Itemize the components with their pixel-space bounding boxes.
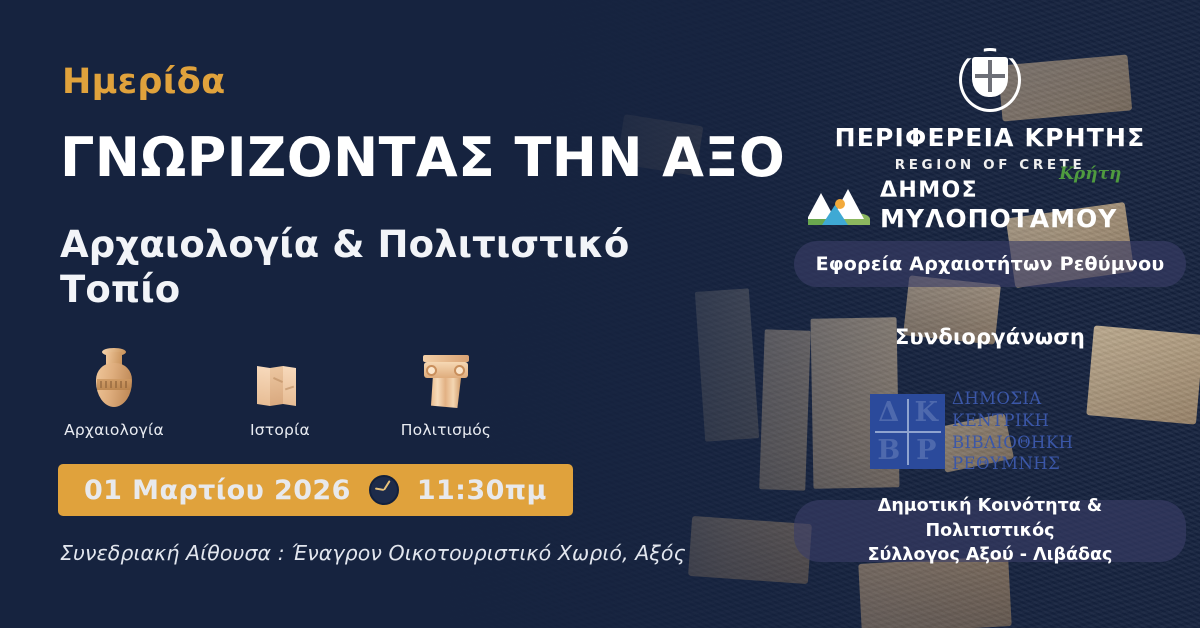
emblem-shield [972, 57, 1008, 97]
right-logo-panel: ΠΕΡΙΦΕΡΕΙΑ ΚΡΗΤΗΣ REGION OF CRETE ΔΗΜΟΣ … [780, 0, 1200, 628]
event-time: 11:30πμ [417, 475, 547, 506]
library-line3: ΒΙΒΛΙΟΘΗΚΗ [952, 432, 1073, 454]
municipality-text: ΔΗΜΟΣ ΜΥΛΟΠΟΤΑΜΟΥ Κρήτη [880, 180, 1117, 231]
monogram-letter: Β [870, 432, 908, 470]
column-shaft [431, 378, 461, 408]
map-fold [257, 366, 270, 406]
folded-map-icon [249, 345, 311, 411]
theme-item-label: Ιστορία [250, 421, 310, 439]
event-date: 01 Μαρτίου 2026 [84, 475, 351, 506]
monogram-letter: Κ [908, 394, 946, 432]
region-of-crete-logo: ΠΕΡΙΦΕΡΕΙΑ ΚΡΗΤΗΣ REGION OF CRETE [780, 48, 1200, 173]
map-fold [270, 366, 283, 406]
event-poster: Ημερίδα ΓΝΩΡΙΖΟΝΤΑΣ ΤΗΝ ΑΞΟ Αρχαιολογία … [0, 0, 1200, 628]
theme-item-archaeology: Αρχαιολογία [60, 345, 168, 439]
local-badge-line2: Σύλλογος Αξού - Λιβάδας [868, 543, 1113, 568]
column-volute [454, 365, 465, 376]
theme-item-culture: Πολιτισμός [392, 345, 500, 439]
mylopotamos-municipality-logo: ΔΗΜΟΣ ΜΥΛΟΠΟΤΑΜΟΥ Κρήτη [808, 180, 1117, 231]
emblem-cross-horizontal [975, 74, 1005, 78]
left-content-panel: Ημερίδα ΓΝΩΡΙΖΟΝΤΑΣ ΤΗΝ ΑΞΟ Αρχαιολογία … [0, 0, 700, 628]
ephorate-badge: Εφορεία Αρχαιοτήτων Ρεθύμνου [794, 241, 1186, 287]
logo-water [822, 205, 848, 225]
library-line1: ΔΗΜΟΣΙΑ [952, 388, 1073, 410]
monogram-letter: Δ [870, 394, 908, 432]
library-line4: ΡΕΘΥΜΝΗΣ [952, 453, 1073, 475]
region-name-english: REGION OF CRETE [780, 157, 1200, 173]
column-abacus [423, 355, 469, 362]
page-title: ΓΝΩΡΙΖΟΝΤΑΣ ΤΗΝ ΑΞΟ [60, 126, 785, 189]
local-badge-line1: Δημοτική Κοινότητα & Πολιτιστικός [812, 494, 1168, 544]
page-subtitle: Αρχαιολογία & Πολιτιστικό Τοπίο [60, 222, 680, 312]
theme-item-label: Αρχαιολογία [64, 421, 164, 439]
clock-icon [369, 475, 399, 505]
ionic-column-icon [415, 345, 477, 411]
theme-item-label: Πολιτισμός [401, 421, 491, 439]
amphora-icon [83, 345, 145, 411]
theme-icon-row: Αρχαιολογία Ιστορία [60, 345, 500, 439]
public-library-logo: Δ Κ Β Ρ ΔΗΜΟΣΙΑ ΚΕΝΤΡΙΚΗ ΒΙΒΛΙΟΘΗΚΗ ΡΕΘΥ… [870, 388, 1073, 475]
greek-state-emblem-icon [959, 48, 1021, 112]
municipality-line2: ΜΥΛΟΠΟΤΑΜΟΥ [880, 206, 1117, 231]
eyebrow-label: Ημερίδα [62, 62, 225, 102]
column-volute [426, 365, 437, 376]
library-line2: ΚΕΝΤΡΙΚΗ [952, 410, 1073, 432]
library-monogram-icon: Δ Κ Β Ρ [870, 394, 945, 469]
monogram-letter: Ρ [908, 432, 946, 470]
theme-item-history: Ιστορία [226, 345, 334, 439]
municipality-region-script: Κρήτη [1059, 166, 1121, 183]
library-name: ΔΗΜΟΣΙΑ ΚΕΝΤΡΙΚΗ ΒΙΒΛΙΟΘΗΚΗ ΡΕΘΥΜΝΗΣ [952, 388, 1073, 475]
venue-text: Συνεδριακή Αίθουσα : Έναγρον Οικοτουριστ… [60, 541, 686, 565]
region-name: ΠΕΡΙΦΕΡΕΙΑ ΚΡΗΤΗΣ [780, 123, 1200, 152]
co-organization-heading: Συνδιοργάνωση [780, 325, 1200, 349]
amphora-band [97, 379, 131, 390]
date-time-badge: 01 Μαρτίου 2026 11:30πμ [58, 464, 573, 516]
mylopotamos-mountain-logo-icon [808, 183, 870, 229]
local-community-badge: Δημοτική Κοινότητα & Πολιτιστικός Σύλλογ… [794, 500, 1186, 562]
